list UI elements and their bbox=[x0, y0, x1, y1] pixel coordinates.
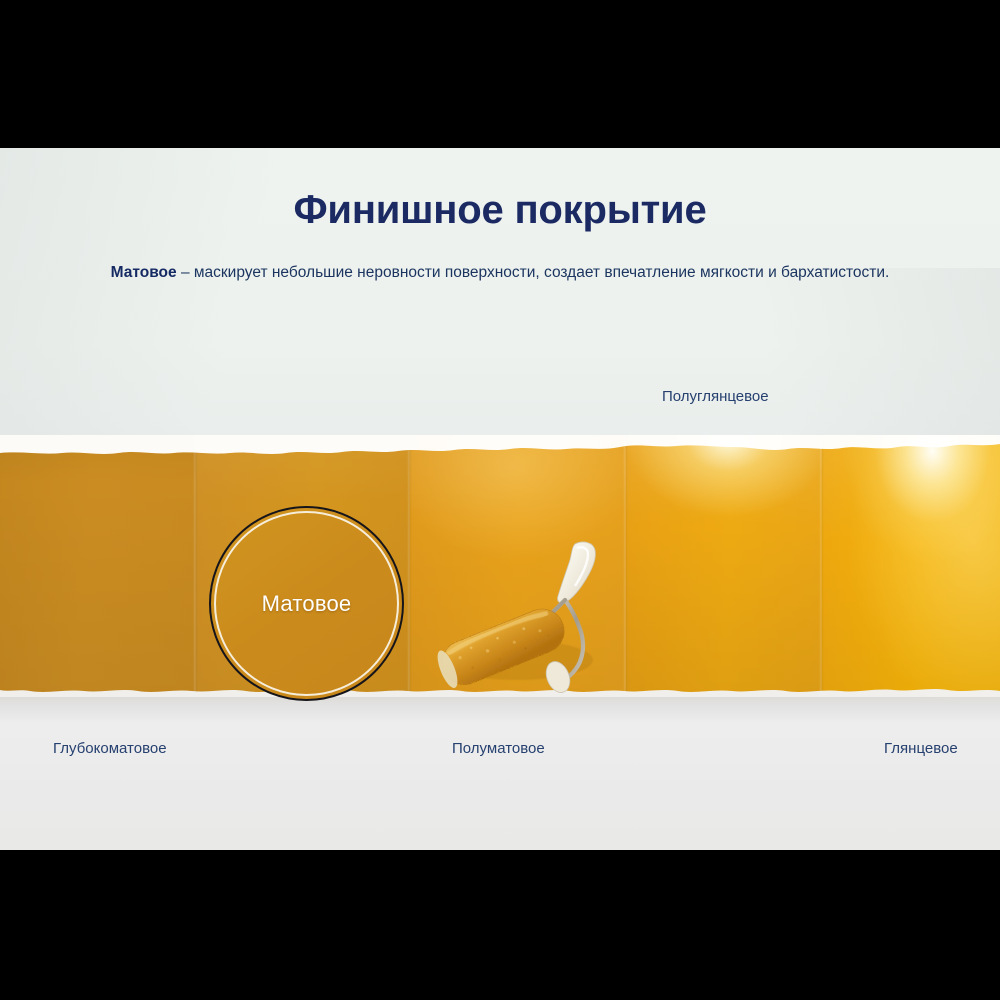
description-rest: – маскирует небольшие неровности поверхн… bbox=[177, 264, 890, 281]
matte-badge[interactable]: Матовое bbox=[209, 506, 404, 701]
description-text: Матовое – маскирует небольшие неровности… bbox=[0, 264, 1000, 283]
wall-shading-right bbox=[580, 268, 1000, 458]
letterbox-bar-bottom bbox=[0, 850, 1000, 1000]
finish-label-semi-matte: Полуматовое bbox=[452, 740, 545, 757]
page-title: Финишное покрытие bbox=[0, 190, 1000, 230]
swatch-semi-matte[interactable] bbox=[410, 435, 626, 703]
finish-label-deep-matte: Глубокоматовое bbox=[53, 740, 167, 757]
content-panel: Финишное покрытие Матовое – маскирует не… bbox=[0, 148, 1000, 850]
finish-label-gloss: Глянцевое bbox=[884, 740, 958, 757]
finish-label-semi-gloss: Полуглянцевое bbox=[662, 388, 769, 405]
paint-band bbox=[0, 435, 1000, 703]
matte-badge-label: Матовое bbox=[262, 591, 352, 617]
swatch-deep-matte[interactable] bbox=[0, 435, 196, 703]
swatch-semi-gloss[interactable] bbox=[626, 435, 822, 703]
description-lead: Матовое bbox=[111, 264, 177, 281]
swatch-gloss[interactable] bbox=[822, 435, 1000, 703]
letterbox-bar-top bbox=[0, 0, 1000, 148]
slide-root: Финишное покрытие Матовое – маскирует не… bbox=[0, 0, 1000, 1000]
